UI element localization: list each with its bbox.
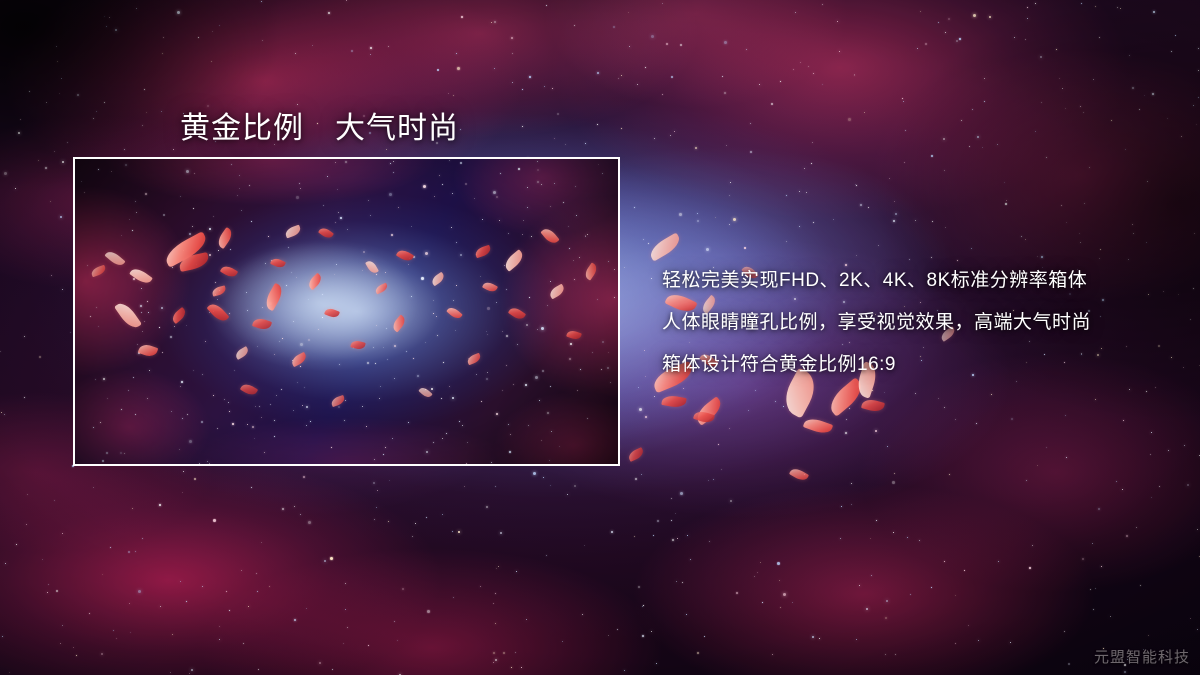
company-watermark: 元盟智能科技: [1094, 646, 1190, 667]
rose-petal: [789, 466, 809, 483]
galaxy-photo-frame: [73, 157, 620, 466]
feature-line: 人体眼睛瞳孔比例，享受视觉效果，高端大气时尚: [662, 302, 1182, 344]
rose-petal: [661, 394, 687, 409]
rose-petal: [861, 397, 885, 413]
photo-vignette: [75, 159, 618, 464]
presentation-slide: 黄金比例 大气时尚 轻松完美实现FHD、2K、4K、8K标准分辨率箱体 人体眼睛…: [0, 0, 1200, 675]
rose-petal: [803, 416, 833, 437]
feature-line: 轻松完美实现FHD、2K、4K、8K标准分辨率箱体: [662, 260, 1182, 302]
rose-petal: [627, 447, 645, 462]
feature-line: 箱体设计符合黄金比例16:9: [662, 344, 1182, 386]
feature-text-block: 轻松完美实现FHD、2K、4K、8K标准分辨率箱体 人体眼睛瞳孔比例，享受视觉效…: [662, 260, 1182, 386]
slide-title: 黄金比例 大气时尚: [180, 103, 459, 147]
rose-petal: [647, 232, 683, 261]
